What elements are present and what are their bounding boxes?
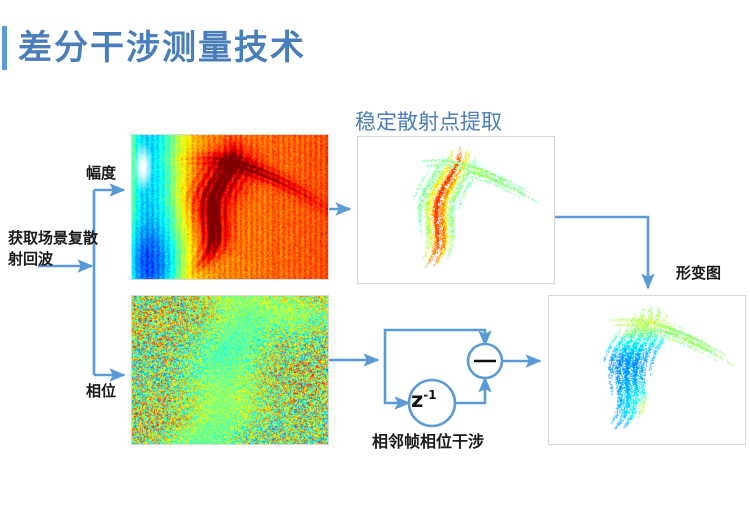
wire-delay-to-subtract [455, 378, 485, 403]
label-source-echo: 获取场景复散射回波 [8, 228, 104, 270]
label-interference: 相邻帧相位干涉 [372, 428, 484, 452]
wire-to-delay [385, 360, 409, 403]
label-deformation-map: 形变图 [676, 262, 721, 283]
unit-delay-label: z-1 [411, 388, 437, 412]
slide-canvas: 差分干涉测量技术 [0, 0, 750, 529]
wire-interference-direct [385, 330, 485, 360]
title-accent-bar [2, 26, 7, 70]
page-title: 差分干涉测量技术 [18, 23, 306, 73]
label-phase: 相位 [86, 380, 116, 401]
wire-stable-to-deformation [555, 217, 648, 288]
label-amplitude: 幅度 [86, 162, 116, 183]
label-stable-extraction: 稳定散射点提取 [355, 106, 502, 136]
stable-scatterer-image [357, 136, 555, 284]
subtractor-node [468, 344, 502, 378]
sar-amplitude-image [131, 134, 329, 280]
delay-exponent: -1 [423, 388, 436, 402]
deformation-map-image [548, 295, 746, 445]
sar-phase-image [131, 295, 329, 445]
delay-symbol: z [411, 388, 423, 412]
